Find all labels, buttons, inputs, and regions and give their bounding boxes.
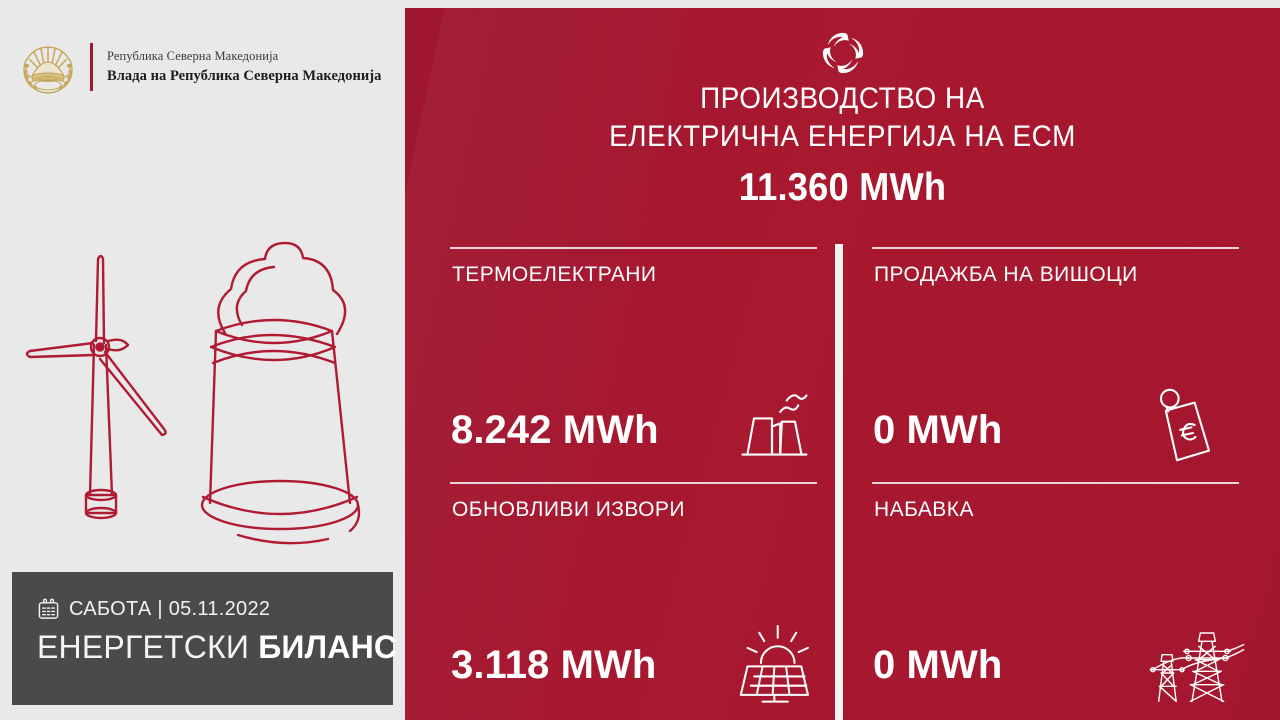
thermal-power-plant-icon [731, 384, 813, 466]
energy-balance-infographic: Република Северна Македонија Влада на Ре… [0, 0, 1280, 720]
calendar-icon [37, 598, 60, 621]
production-panel: ПРОИЗВОДСТВО НА ЕЛЕКТРИЧНА ЕНЕРГИЈА НА Е… [405, 8, 1280, 720]
energy-balance-title-bold: БИЛАНС [258, 629, 397, 665]
total-production-value: 11.360 MWh [436, 166, 1250, 210]
stat-label-renewables: ОБНОВЛИВИ ИЗВОРИ [452, 498, 685, 522]
stat-rule [450, 247, 817, 249]
stat-value-renewables: 3.118 MWh [451, 643, 656, 688]
stat-label-surplus-sales: ПРОДАЖБА НА ВИШОЦИ [874, 263, 1138, 287]
date-card: САБОТА | 05.11.2022 ЕНЕРГЕТСКИ БИЛАНС [12, 572, 393, 705]
stat-column-right: ПРОДАЖБА НА ВИШОЦИ 0 MWh [872, 236, 1257, 706]
headline-line-1: ПРОИЗВОДСТВО НА [436, 80, 1250, 118]
government-text: Република Северна Македонија Влада на Ре… [107, 47, 381, 86]
date-row: САБОТА | 05.11.2022 [37, 596, 393, 622]
stat-label-purchase: НАБАВКА [874, 498, 974, 522]
energy-balance-title-regular: ЕНЕРГЕТСКИ [37, 629, 249, 665]
stat-value-thermal: 8.242 MWh [451, 408, 659, 453]
energy-balance-title: ЕНЕРГЕТСКИ БИЛАНС [37, 629, 393, 666]
date-text: САБОТА | 05.11.2022 [69, 598, 270, 621]
stat-grid: ТЕРМОЕЛЕКТРАНИ 8.242 MWh [405, 236, 1280, 720]
stat-value-purchase: 0 MWh [873, 643, 1002, 688]
stat-rule [450, 482, 817, 484]
headline-block: ПРОИЗВОДСТВО НА ЕЛЕКТРИЧНА ЕНЕРГИЈА НА Е… [405, 80, 1280, 210]
headline-line-2: ЕЛЕКТРИЧНА ЕНЕРГИЈА НА ЕСМ [436, 118, 1250, 156]
government-header: Република Северна Македонија Влада на Ре… [18, 36, 388, 98]
stat-value-surplus-sales: 0 MWh [873, 408, 1002, 453]
stat-column-left: ТЕРМОЕЛЕКТРАНИ 8.242 MWh [450, 236, 835, 706]
institution-name: Влада на Република Северна Македонија [107, 66, 381, 87]
stat-cell-renewables: ОБНОВЛИВИ ИЗВОРИ 3.118 MWh [450, 471, 835, 706]
wind-turbine-and-cooling-tower-illustration [20, 175, 395, 560]
stat-rule [872, 247, 1239, 249]
esm-swirl-logo [820, 30, 866, 76]
price-tag-euro-icon [1145, 384, 1217, 466]
stat-cell-surplus-sales: ПРОДАЖБА НА ВИШОЦИ 0 MWh [872, 236, 1257, 471]
left-panel: Република Северна Македонија Влада на Ре… [0, 0, 405, 720]
solar-panel-icon [729, 621, 813, 705]
column-divider [835, 244, 843, 720]
stat-cell-purchase: НАБАВКА 0 MWh [872, 471, 1257, 706]
header-accent-divider [90, 43, 93, 91]
stat-label-thermal: ТЕРМОЕЛЕКТРАНИ [452, 263, 656, 287]
country-name: Република Северна Македонија [107, 47, 381, 65]
coat-of-arms-icon [18, 37, 78, 97]
stat-cell-thermal: ТЕРМОЕЛЕКТРАНИ 8.242 MWh [450, 236, 835, 471]
power-transmission-tower-icon [1147, 621, 1247, 705]
stat-rule [872, 482, 1239, 484]
